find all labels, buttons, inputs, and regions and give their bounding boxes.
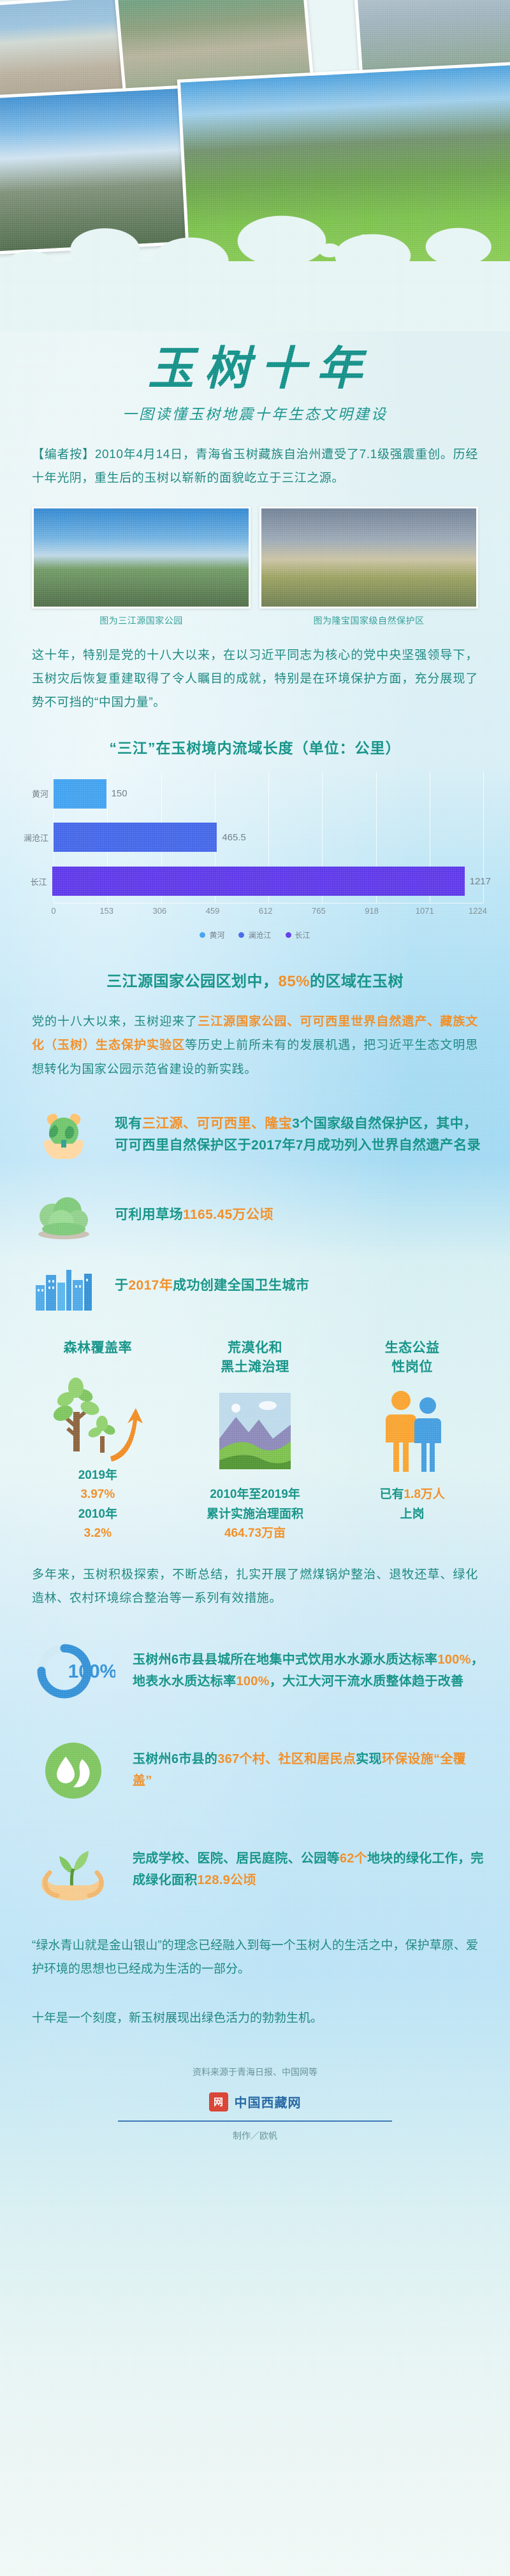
- globe-in-hands-icon: [25, 1100, 102, 1169]
- x-tick-label: 306: [152, 906, 166, 916]
- feature-2-hl1: 367个村、社区和居民点: [217, 1752, 356, 1766]
- editor-note: 【编者按】2010年4月14日，青海省玉树藏族自治州遭受了7.1级强震重创。历经…: [32, 443, 478, 490]
- chart-plot-area: 黄河150澜沧江465.5长江1217 01533064596127659181…: [19, 772, 491, 925]
- x-tick-label: 765: [312, 906, 326, 916]
- feature-3-hl2: 128.9公顷: [198, 1873, 256, 1887]
- brand-name: 中国西藏网: [235, 2092, 302, 2111]
- photo-caption-right: 图为隆宝国家级自然保护区: [259, 614, 478, 627]
- feature-row-greening: 完成学校、医院、居民庭院、公园等62个地块的绿化工作，完成绿化面积128.9公顷: [25, 1832, 484, 1908]
- stat-1-title: 森林覆盖率: [19, 1339, 177, 1358]
- icon-row-grassland: 可利用草场1165.45万公顷: [25, 1188, 484, 1242]
- stat-eco-jobs: 生态公益 性岗位 已有1.8万人 上岗: [333, 1339, 491, 1544]
- source-note: 资料来源于青海日报、中国网等: [0, 2066, 510, 2078]
- closing-paragraph-2: 十年是一个刻度，新玉树展现出绿色活力的勃勃生机。: [32, 2006, 478, 2030]
- stat-2-values: 2010年至2019年 累计实施治理面积 464.73万亩: [177, 1485, 334, 1543]
- bar-value-label: 150: [112, 788, 127, 799]
- cloud-blob: [382, 237, 393, 245]
- chart-legend: 黄河澜沧江长江: [19, 930, 491, 940]
- icon-row-1-text: 现有三江源、可可西里、隆宝3个国家级自然保护区，其中，可可西里自然保护区于201…: [115, 1113, 484, 1156]
- legend-label: 长江: [295, 930, 310, 940]
- stat-2-line1: 2010年至2019年: [210, 1488, 300, 1501]
- legend-item: 澜沧江: [238, 930, 271, 940]
- site-logo-icon: 网: [209, 2092, 228, 2112]
- title-block: 玉树十年 一图读懂玉树地震十年生态文明建设: [0, 331, 510, 424]
- feature-row-water-quality: 100% 玉树州6市县县城所在地集中式饮用水水源水质达标率100%，地表水水质达…: [25, 1633, 484, 1709]
- feature-2-b: 实现: [356, 1752, 382, 1766]
- legend-swatch: [200, 932, 205, 938]
- river-length-chart: “三江”在玉树境内流域长度（单位：公里） 黄河150澜沧江465.5长江1217…: [19, 736, 491, 940]
- legend-label: 澜沧江: [248, 930, 271, 940]
- ring-badge-label: 100%: [68, 1661, 115, 1682]
- icon-row-nature-reserves: 现有三江源、可可西里、隆宝3个国家级自然保护区，其中，可可西里自然保护区于201…: [25, 1100, 484, 1169]
- progress-ring-100-icon: 100%: [25, 1633, 121, 1709]
- park-share-banner: 三江源国家公园区划中，85%的区域在玉树: [19, 968, 491, 991]
- infographic-page: 玉树十年 一图读懂玉树地震十年生态文明建设 【编者按】2010年4月14日，青海…: [0, 0, 510, 2576]
- credit-line: 制作／欧帆: [0, 2129, 510, 2165]
- chart-bar: [52, 867, 465, 896]
- legend-item: 长江: [286, 930, 310, 940]
- legend-item: 黄河: [200, 930, 224, 940]
- legend-swatch: [238, 932, 244, 938]
- stat-3-line2: 上岗: [400, 1507, 425, 1521]
- water-drop-leaf-icon: [25, 1732, 121, 1809]
- brand-bar: 网 中国西藏网: [0, 2092, 510, 2112]
- bar-value-label: 1217: [470, 876, 491, 887]
- icon-row-2-text: 可利用草场1165.45万公顷: [115, 1204, 273, 1226]
- x-tick-label: 153: [99, 906, 113, 916]
- stat-forest-coverage: 森林覆盖率 2019年 3: [19, 1339, 177, 1544]
- cloud-blob: [357, 234, 371, 245]
- icon-row-3-text: 于2017年成功创建全国卫生城市: [115, 1275, 309, 1297]
- bar-category-label: 长江: [19, 875, 52, 888]
- cloud-blob: [319, 243, 340, 257]
- paragraph-two: 这十年，特别是党的十八大以来，在以习近平同志为核心的党中央坚强领导下，玉树灾后恢…: [32, 644, 478, 714]
- stat-3-value1: 1.8万人: [404, 1488, 444, 1501]
- icon-row-3-highlight: 2017年: [128, 1278, 173, 1293]
- photo-pair: 图为三江源国家公园 图为隆宝国家级自然保护区: [32, 507, 478, 627]
- hero-photo-collage: [0, 0, 510, 331]
- stat-1-line2: 2010年: [78, 1507, 117, 1521]
- footer-rule: [118, 2120, 392, 2122]
- paragraph-three: 党的十八大以来，玉树迎来了三江源国家公园、可可西里世界自然遗产、藏族文化（玉树）…: [32, 1010, 478, 1081]
- photo-pair-left: 图为三江源国家公园: [32, 507, 251, 627]
- feature-row-3-text: 完成学校、医院、居民庭院、公园等62个地块的绿化工作，完成绿化面积128.9公顷: [133, 1848, 484, 1891]
- x-tick-label: 1224: [469, 906, 487, 916]
- icon-row-1-seg1: 现有: [115, 1116, 142, 1131]
- icon-row-3-seg2: 成功创建全国卫生城市: [173, 1278, 309, 1293]
- chart-bar-row: 黄河150: [54, 779, 491, 809]
- longbao-reserve-photo: [259, 507, 478, 608]
- icon-row-2-seg1: 可利用草场: [115, 1207, 183, 1222]
- x-tick-label: 612: [259, 906, 273, 916]
- bar-value-label: 465.5: [222, 832, 246, 843]
- page-subtitle: 一图读懂玉树地震十年生态文明建设: [0, 402, 510, 424]
- chart-bar: [54, 779, 106, 809]
- feature-row-1-text: 玉树州6市县县城所在地集中式饮用水水源水质达标率100%，地表水水质达标率100…: [133, 1650, 484, 1692]
- stat-2-line2: 累计实施治理面积: [207, 1507, 303, 1521]
- legend-label: 黄河: [209, 930, 224, 940]
- stat-3-title: 生态公益 性岗位: [333, 1339, 491, 1378]
- feature-2-a: 玉树州6市县的: [133, 1752, 217, 1766]
- legend-swatch: [286, 932, 291, 938]
- chart-x-axis: 015330645961276591810711224: [54, 903, 491, 922]
- chart-bars: 黄河150澜沧江465.5长江1217: [54, 772, 491, 903]
- closing-paragraph-1: “绿水青山就是金山银山”的理念已经融入到每一个玉树人的生活之中，保护草原、爱护环…: [32, 1934, 478, 1981]
- feature-3-a: 完成学校、医院、居民庭院、公园等: [133, 1852, 340, 1866]
- city-skyline-icon: [25, 1261, 102, 1311]
- banner-highlight: 85%: [278, 973, 310, 990]
- stat-2-title: 荒漠化和 黑土滩治理: [177, 1339, 334, 1378]
- grassland-photo-icon: [177, 1377, 334, 1485]
- x-tick-label: 0: [51, 906, 55, 916]
- x-tick-label: 1071: [416, 906, 434, 916]
- stat-desertification: 荒漠化和 黑土滩治理 2010年至2019年 累计实施治理面积 464.73万亩: [177, 1339, 334, 1544]
- icon-row-3-seg1: 于: [115, 1278, 128, 1293]
- paragraph-four: 多年来，玉树积极探索，不断总结，扎实开展了燃煤锅炉整治、退牧还草、绿化造林、农村…: [32, 1563, 478, 1610]
- stat-3-values: 已有1.8万人 上岗: [333, 1485, 491, 1524]
- stat-1-value1: 3.97%: [80, 1488, 115, 1501]
- icon-row-2-highlight: 1165.45万公顷: [183, 1207, 273, 1222]
- chart-title: “三江”在玉树境内流域长度（单位：公里）: [19, 736, 491, 758]
- tree-growth-icon: [19, 1358, 177, 1466]
- feature-1-a: 玉树州6市县县城所在地集中式饮用水水源水质达标率: [133, 1653, 437, 1667]
- stat-1-values: 2019年 3.97% 2010年 3.2%: [19, 1466, 177, 1544]
- x-tick-label: 918: [365, 906, 379, 916]
- hands-plant-icon: [25, 1832, 121, 1908]
- stat-1-value2: 3.2%: [84, 1527, 112, 1540]
- chart-bar: [54, 823, 217, 852]
- triple-stats: 森林覆盖率 2019年 3: [19, 1339, 491, 1544]
- banner-suffix: 的区域在玉树: [310, 973, 404, 990]
- icon-row-1-highlight: 三江源、可可西里、隆宝: [142, 1116, 292, 1131]
- bar-category-label: 黄河: [19, 788, 54, 800]
- photo-pair-right: 图为隆宝国家级自然保护区: [259, 507, 478, 627]
- stat-1-line1: 2019年: [78, 1469, 117, 1482]
- chart-bar-row: 长江1217: [54, 867, 491, 896]
- feature-row-env-facilities: 玉树州6市县的367个村、社区和居民点实现环保设施“全覆盖”: [25, 1732, 484, 1809]
- bar-category-label: 澜沧江: [19, 831, 54, 844]
- page-title: 玉树十年: [0, 343, 510, 393]
- banner-prefix: 三江源国家公园区划中，: [106, 973, 279, 990]
- two-people-icon: [333, 1377, 491, 1485]
- stat-2-value1: 464.73万亩: [224, 1527, 286, 1540]
- cloud-blob: [465, 252, 482, 263]
- stat-3-line1: 已有: [379, 1488, 404, 1501]
- feature-1-hl2: 100%: [236, 1674, 269, 1688]
- photo-caption-left: 图为三江源国家公园: [32, 614, 251, 627]
- cloud-mask-divider: [0, 191, 510, 331]
- grass-bush-icon: [25, 1188, 102, 1242]
- chart-bar-row: 澜沧江465.5: [54, 823, 491, 852]
- x-tick-label: 459: [206, 906, 220, 916]
- feature-row-2-text: 玉树州6市县的367个村、社区和居民点实现环保设施“全覆盖”: [133, 1749, 484, 1792]
- feature-1-c: ，大江大河干流水质整体趋于改善: [270, 1674, 464, 1688]
- feature-3-hl1: 62个: [340, 1852, 367, 1866]
- paragraph-three-a: 党的十八大以来，玉树迎来了: [32, 1015, 198, 1028]
- sanjiangyuan-park-photo: [32, 507, 251, 608]
- icon-row-health-city: 于2017年成功创建全国卫生城市: [25, 1261, 484, 1311]
- feature-1-hl1: 100%: [437, 1653, 470, 1667]
